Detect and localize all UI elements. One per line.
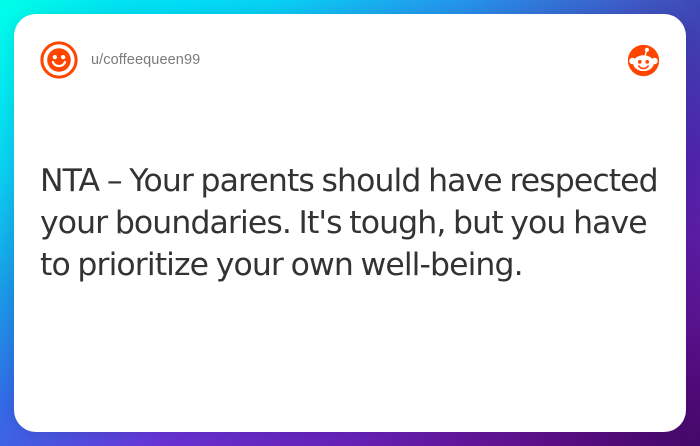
card-header: u/coffeequeen99 bbox=[14, 14, 686, 106]
user-identity-block[interactable]: u/coffeequeen99 bbox=[40, 41, 200, 79]
username-label: u/coffeequeen99 bbox=[91, 52, 200, 68]
background-gradient: u/coffeequeen99 NTA – Your bbox=[0, 0, 700, 446]
post-text: NTA – Your parents should have respected… bbox=[40, 160, 662, 286]
reddit-snoo-icon[interactable] bbox=[627, 44, 660, 77]
smiley-face-icon bbox=[40, 41, 78, 79]
reddit-comment-card: u/coffeequeen99 NTA – Your bbox=[14, 14, 686, 432]
card-body: NTA – Your parents should have respected… bbox=[40, 160, 662, 286]
